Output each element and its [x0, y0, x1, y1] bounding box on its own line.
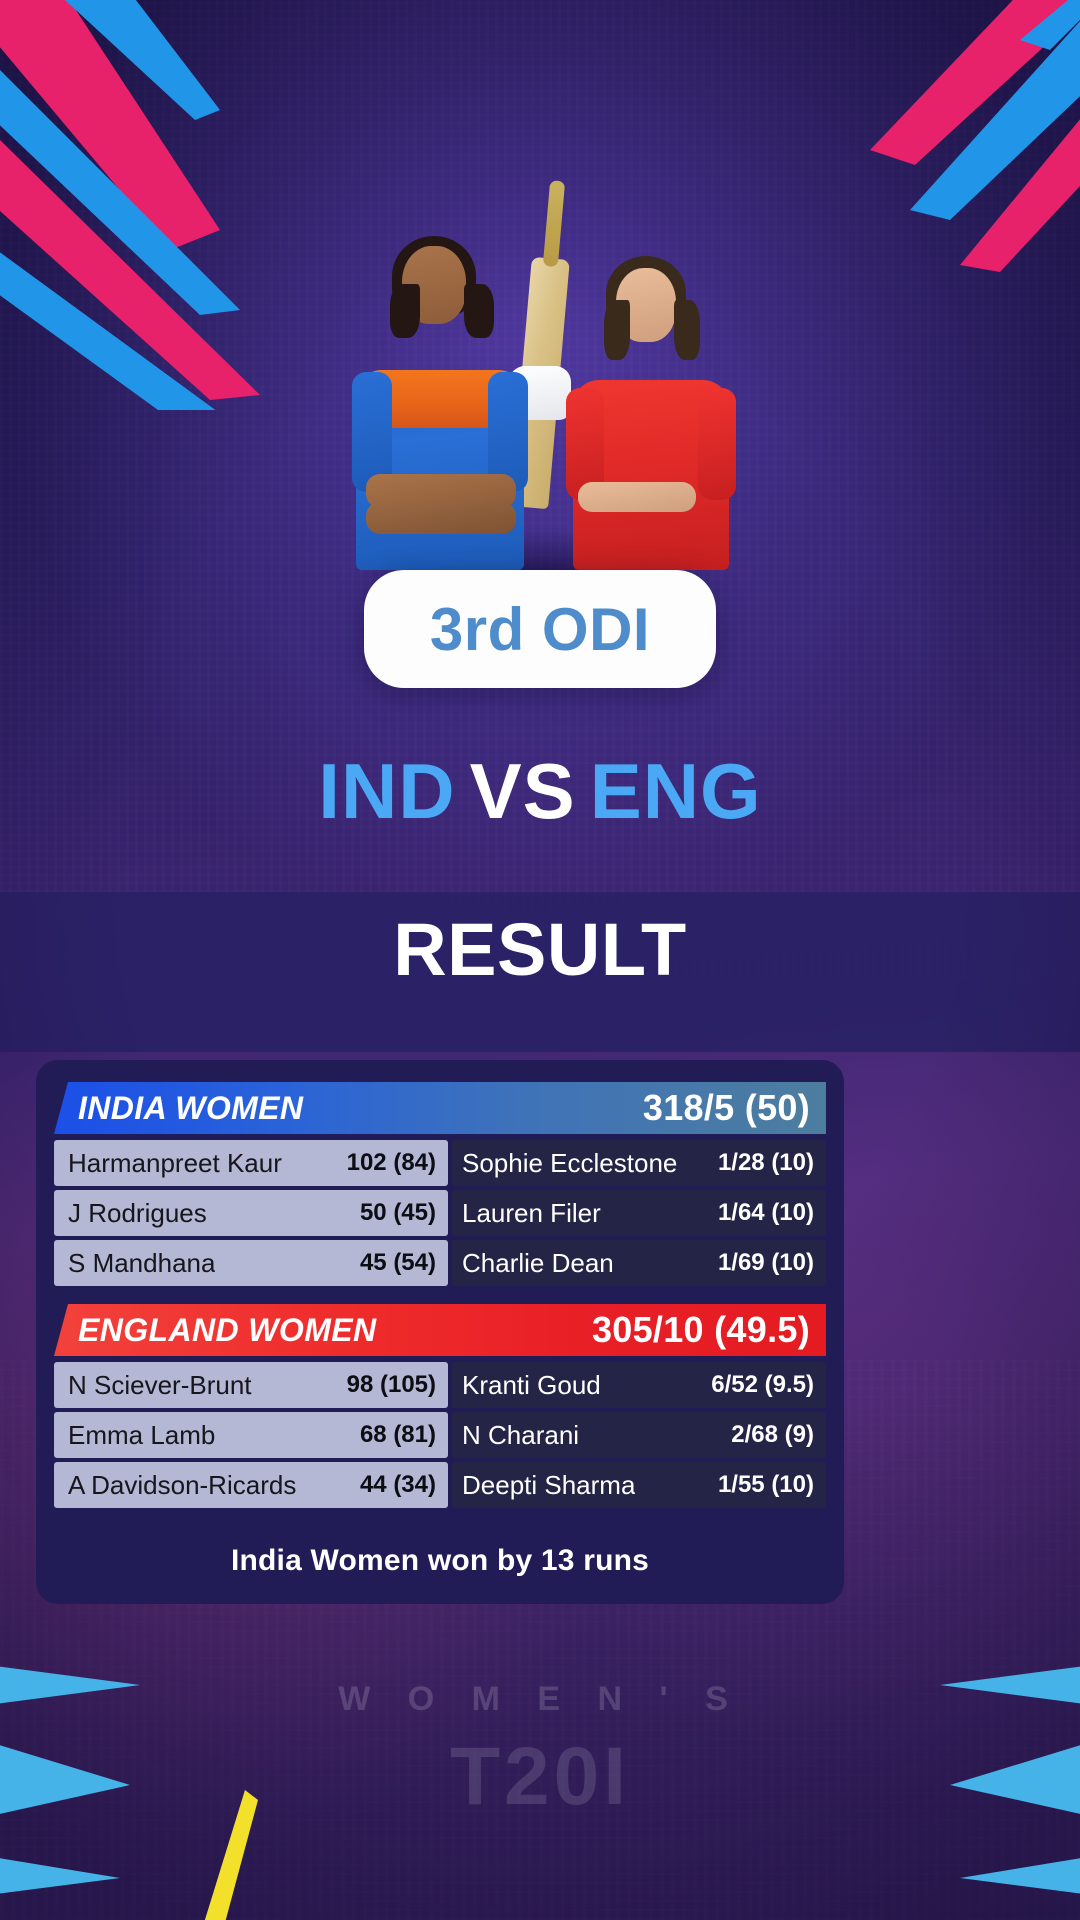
decorative-shards-top-left [0, 0, 370, 410]
team-b-short: ENG [590, 747, 762, 835]
match-verdict: India Women won by 13 runs [54, 1518, 826, 1586]
scorecard-panel: INDIA WOMEN 318/5 (50) Harmanpreet Kaur … [36, 1060, 844, 1604]
bowler-name: Sophie Ecclestone [462, 1148, 677, 1179]
match-label-pill: 3rd ODI [364, 570, 716, 688]
table-row: S Mandhana 45 (54) Charlie Dean 1/69 (10… [54, 1240, 826, 1286]
team-score: 305/10 (49.5) [592, 1309, 826, 1351]
table-row: A Davidson-Ricards 44 (34) Deepti Sharma… [54, 1462, 826, 1508]
batter-name: Harmanpreet Kaur [68, 1148, 282, 1179]
team-name: ENGLAND WOMEN [54, 1312, 377, 1349]
players-photo [330, 170, 750, 570]
section-title: RESULT [0, 906, 1080, 995]
player-india [340, 240, 540, 570]
team-block-england: ENGLAND WOMEN 305/10 (49.5) N Sciever-Br… [54, 1304, 826, 1508]
table-row: Emma Lamb 68 (81) N Charani 2/68 (9) [54, 1412, 826, 1458]
team-rows-india: Harmanpreet Kaur 102 (84) Sophie Ecclest… [54, 1140, 826, 1286]
team-block-india: INDIA WOMEN 318/5 (50) Harmanpreet Kaur … [54, 1082, 826, 1286]
batter-figure: 68 (81) [360, 1421, 436, 1449]
batter-figure: 50 (45) [360, 1199, 436, 1227]
bowler-name: N Charani [462, 1420, 579, 1451]
bowler-name: Kranti Goud [462, 1370, 601, 1401]
bowling-cell: Lauren Filer 1/64 (10) [452, 1190, 826, 1236]
decorative-shards-bottom-right [750, 1600, 1080, 1920]
bowling-cell: Sophie Ecclestone 1/28 (10) [452, 1140, 826, 1186]
bowler-figure: 1/69 (10) [718, 1249, 814, 1277]
bowler-name: Deepti Sharma [462, 1470, 635, 1501]
table-row: N Sciever-Brunt 98 (105) Kranti Goud 6/5… [54, 1362, 826, 1408]
batting-cell: N Sciever-Brunt 98 (105) [54, 1362, 448, 1408]
table-row: Harmanpreet Kaur 102 (84) Sophie Ecclest… [54, 1140, 826, 1186]
decorative-shards-top-right [720, 0, 1080, 280]
matchup-title: INDVSENG [0, 752, 1080, 830]
bowler-figure: 2/68 (9) [731, 1421, 814, 1449]
decorative-shards-bottom-left [0, 1600, 330, 1920]
batter-name: S Mandhana [68, 1248, 215, 1279]
team-header-england: ENGLAND WOMEN 305/10 (49.5) [54, 1304, 826, 1356]
bowler-figure: 6/52 (9.5) [711, 1371, 814, 1399]
bowling-cell: N Charani 2/68 (9) [452, 1412, 826, 1458]
bowler-figure: 1/28 (10) [718, 1149, 814, 1177]
batter-name: N Sciever-Brunt [68, 1370, 252, 1401]
batter-name: A Davidson-Ricards [68, 1470, 296, 1501]
table-row: J Rodrigues 50 (45) Lauren Filer 1/64 (1… [54, 1190, 826, 1236]
bowler-figure: 1/55 (10) [718, 1471, 814, 1499]
batter-figure: 44 (34) [360, 1471, 436, 1499]
batter-figure: 102 (84) [347, 1149, 436, 1177]
batting-cell: Harmanpreet Kaur 102 (84) [54, 1140, 448, 1186]
bowling-cell: Charlie Dean 1/69 (10) [452, 1240, 826, 1286]
bowler-name: Charlie Dean [462, 1248, 614, 1279]
batting-cell: Emma Lamb 68 (81) [54, 1412, 448, 1458]
player-england [556, 260, 746, 570]
batter-figure: 98 (105) [347, 1371, 436, 1399]
bowler-name: Lauren Filer [462, 1198, 601, 1229]
team-name: INDIA WOMEN [54, 1090, 303, 1127]
batting-cell: J Rodrigues 50 (45) [54, 1190, 448, 1236]
batting-cell: S Mandhana 45 (54) [54, 1240, 448, 1286]
team-a-short: IND [318, 747, 455, 835]
versus-label: VS [470, 747, 576, 835]
team-header-india: INDIA WOMEN 318/5 (50) [54, 1082, 826, 1134]
bowling-cell: Deepti Sharma 1/55 (10) [452, 1462, 826, 1508]
team-score: 318/5 (50) [643, 1087, 826, 1129]
bowling-cell: Kranti Goud 6/52 (9.5) [452, 1362, 826, 1408]
match-label-text: 3rd ODI [430, 595, 650, 664]
batter-name: Emma Lamb [68, 1420, 215, 1451]
batter-figure: 45 (54) [360, 1249, 436, 1277]
batting-cell: A Davidson-Ricards 44 (34) [54, 1462, 448, 1508]
team-rows-england: N Sciever-Brunt 98 (105) Kranti Goud 6/5… [54, 1362, 826, 1508]
bowler-figure: 1/64 (10) [718, 1199, 814, 1227]
batter-name: J Rodrigues [68, 1198, 207, 1229]
